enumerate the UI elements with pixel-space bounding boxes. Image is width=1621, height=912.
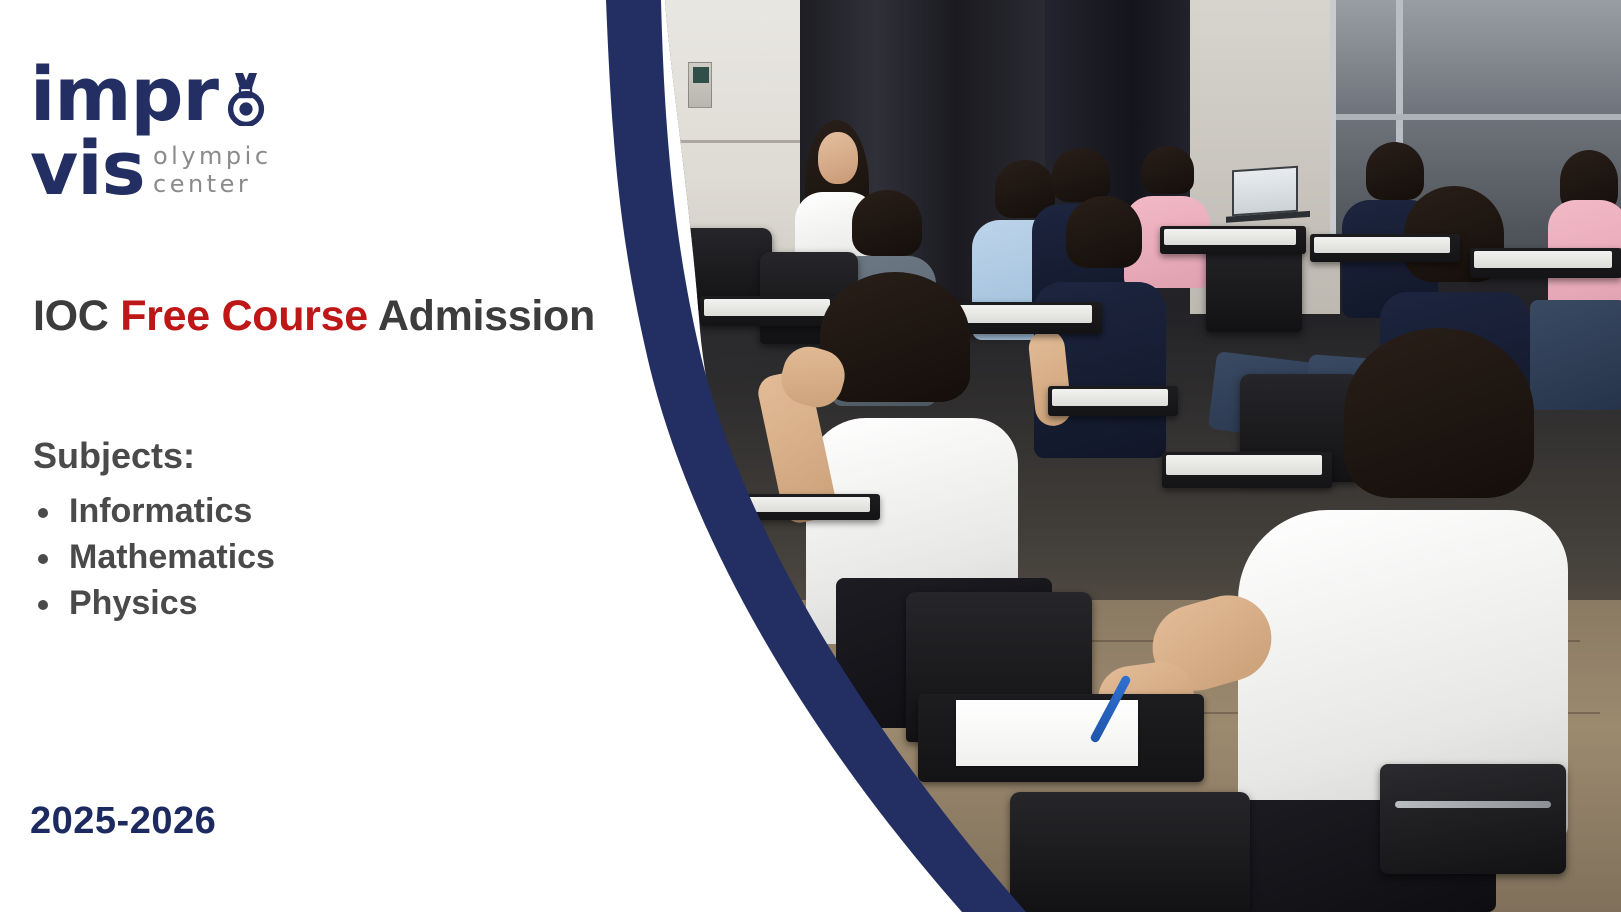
subjects-list: Informatics Mathematics Physics — [33, 488, 275, 626]
desk — [1310, 234, 1460, 262]
brand-logo[interactable]: imprvis olympic center — [30, 58, 370, 170]
desk — [700, 296, 840, 326]
academic-year: 2025-2026 — [30, 800, 216, 843]
subject-label: Mathematics — [69, 538, 275, 576]
title-suffix: Admission — [368, 292, 595, 340]
page-title: IOC Free Course Admission — [33, 292, 595, 341]
wall-switch-icon — [688, 62, 712, 108]
list-item: Mathematics — [33, 534, 275, 580]
desk — [1048, 386, 1178, 416]
logo-tagline: olympic center — [153, 142, 370, 198]
title-accent: Free Course — [120, 292, 368, 340]
content-panel: imprvis olympic center IOC Free Course A… — [0, 0, 640, 912]
black-bag — [1380, 764, 1566, 874]
list-item: Informatics — [33, 488, 275, 534]
medal-icon — [219, 64, 273, 118]
desk — [1162, 452, 1332, 488]
logo-word-post: vis — [30, 132, 145, 206]
laptop-icon — [1232, 166, 1298, 217]
promo-banner: imprvis olympic center IOC Free Course A… — [0, 0, 1621, 912]
desk — [744, 494, 880, 520]
list-item: Physics — [33, 580, 275, 626]
wall-seam — [640, 140, 800, 143]
subject-label: Physics — [69, 584, 198, 622]
title-prefix: IOC — [33, 292, 120, 340]
subjects-label: Subjects: — [33, 435, 195, 477]
desk — [1160, 226, 1306, 254]
desk — [952, 302, 1102, 334]
chair — [1010, 792, 1250, 912]
desk — [1470, 248, 1621, 278]
logo-word-pre: impr — [30, 58, 218, 132]
subject-label: Informatics — [69, 492, 252, 530]
